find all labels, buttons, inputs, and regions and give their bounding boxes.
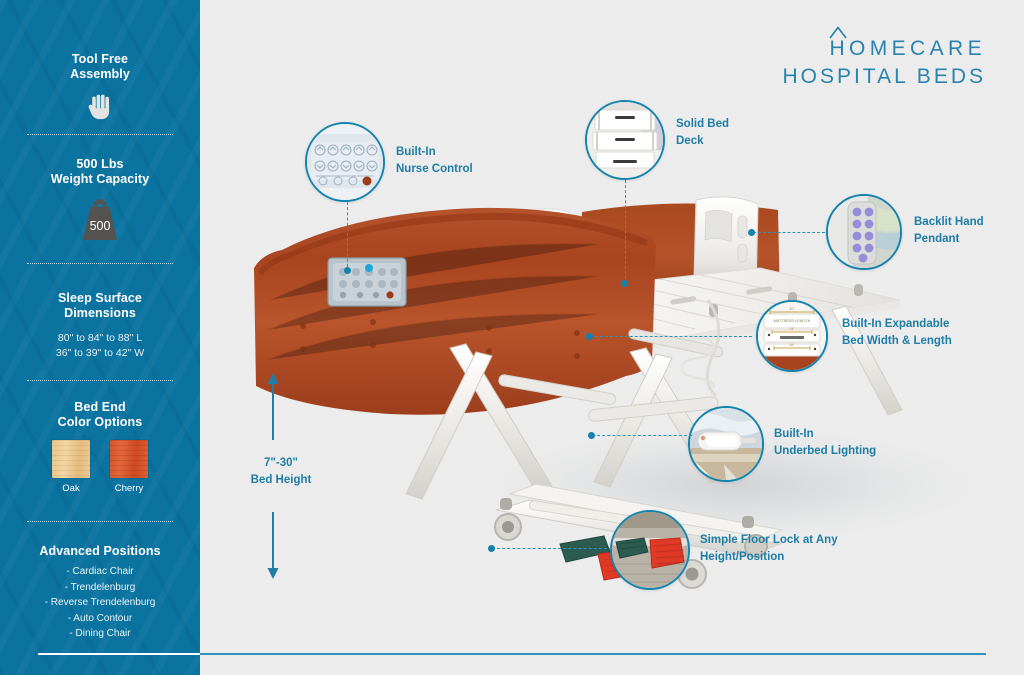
list-item: - Reverse Trendelenburg — [14, 595, 186, 611]
advanced-positions-title: Advanced Positions — [14, 544, 186, 559]
sidebar-item-weight-capacity: 500 Lbs Weight Capacity 500 — [0, 157, 200, 245]
sleep-surface-title: Sleep Surface Dimensions — [14, 291, 186, 322]
expandable-bed-photo: 30" MATTRESS LENGTH 34" 38" — [756, 300, 828, 372]
sidebar-divider-3 — [27, 380, 173, 381]
callout-floor-lock[interactable]: Simple Floor Lock at Any Height/Position — [610, 510, 690, 590]
connector-dot-floor-lock — [488, 545, 495, 552]
cherry-swatch[interactable] — [110, 440, 148, 478]
oak-label: Oak — [62, 483, 79, 494]
sidebar-divider-1 — [27, 134, 173, 135]
callout-underbed-lighting[interactable]: Built-In Underbed Lighting — [688, 406, 764, 482]
weight-icon-value: 500 — [90, 219, 111, 233]
connector-dot-nurse-control — [344, 267, 351, 274]
weight-icon: 500 — [72, 195, 128, 245]
sidebar-item-advanced-positions: Advanced Positions - Cardiac Chair - Tre… — [0, 544, 200, 642]
callout-nurse-control[interactable]: Built-In Nurse Control — [305, 122, 385, 202]
list-item: - Dining Chair — [14, 626, 186, 642]
connector-dot-underbed-lighting — [588, 432, 595, 439]
svg-text:38": 38" — [789, 343, 795, 347]
footer-rule-sidebar — [38, 653, 200, 655]
footer-rule-main — [200, 653, 986, 655]
connector-dot-solid-bed-deck — [621, 280, 628, 287]
callout-expandable-bed[interactable]: 30" MATTRESS LENGTH 34" 38" Built-In Exp… — [756, 300, 828, 372]
bed-height-label: 7"-30" Bed Height — [238, 455, 324, 488]
floor-lock-photo — [610, 510, 690, 590]
headboard-nurse-control-panel — [328, 258, 406, 306]
list-item: - Auto Contour — [14, 611, 186, 627]
color-swatch-group: Oak Cherry — [14, 440, 186, 494]
callout-hand-pendant[interactable]: Backlit Hand Pendant — [826, 194, 902, 270]
connector-dot-hand-pendant — [748, 229, 755, 236]
sidebar-item-tool-free-assembly: Tool Free Assembly — [0, 52, 200, 125]
swatch-option-oak[interactable]: Oak — [52, 440, 90, 494]
connector-dot-expandable-bed — [586, 333, 593, 340]
bed-end-color-title: Bed End Color Options — [14, 400, 186, 431]
hand-pendant-photo — [826, 194, 902, 270]
bed-headboard-near — [254, 208, 656, 415]
underbed-lighting-label: Built-In Underbed Lighting — [774, 426, 904, 459]
svg-text:34": 34" — [789, 327, 795, 331]
nurse-control-photo — [305, 122, 385, 202]
oak-swatch[interactable] — [52, 440, 90, 478]
sidebar: Tool Free Assembly 500 Lbs Weight Capaci… — [0, 0, 200, 675]
connector-hand-pendant — [753, 232, 825, 233]
connector-expandable-bed — [590, 336, 752, 337]
svg-text:30": 30" — [789, 307, 795, 311]
solid-bed-deck-label: Solid Bed Deck — [676, 116, 772, 149]
sidebar-divider-2 — [27, 263, 173, 264]
floor-lock-label: Simple Floor Lock at Any Height/Position — [700, 532, 880, 565]
sleep-surface-length: 80" to 84" to 88" L — [14, 331, 186, 346]
underbed-light-photo — [688, 406, 764, 482]
connector-nurse-control — [347, 202, 348, 272]
list-item: - Cardiac Chair — [14, 564, 186, 580]
bed-deck-photo — [585, 100, 665, 180]
expandable-bed-label: Built-In Expandable Bed Width & Length — [842, 316, 1022, 349]
sleep-surface-width: 36" to 39" to 42" W — [14, 346, 186, 361]
sidebar-item-sleep-surface-dimensions: Sleep Surface Dimensions 80" to 84" to 8… — [0, 291, 200, 361]
swatch-option-cherry[interactable]: Cherry — [110, 440, 148, 494]
hand-icon — [83, 91, 117, 125]
cherry-label: Cherry — [115, 483, 144, 494]
list-item: - Trendelenburg — [14, 580, 186, 596]
weight-capacity-title: 500 Lbs Weight Capacity — [14, 157, 186, 188]
hand-pendant-label: Backlit Hand Pendant — [914, 214, 1024, 247]
mattress-length-text: MATTRESS LENGTH — [774, 319, 811, 323]
callout-solid-bed-deck[interactable]: Solid Bed Deck — [585, 100, 665, 180]
connector-underbed-lighting — [592, 435, 692, 436]
sidebar-divider-4 — [27, 521, 173, 522]
sidebar-item-bed-end-color-options: Bed End Color Options Oak Cherry — [0, 400, 200, 494]
nurse-control-label: Built-In Nurse Control — [396, 144, 494, 177]
tool-free-assembly-title: Tool Free Assembly — [14, 52, 186, 83]
infographic-page: Tool Free Assembly 500 Lbs Weight Capaci… — [0, 0, 1024, 675]
connector-floor-lock — [492, 548, 612, 549]
connector-solid-bed-deck — [625, 180, 626, 284]
advanced-positions-list: - Cardiac Chair - Trendelenburg - Revers… — [14, 564, 186, 642]
